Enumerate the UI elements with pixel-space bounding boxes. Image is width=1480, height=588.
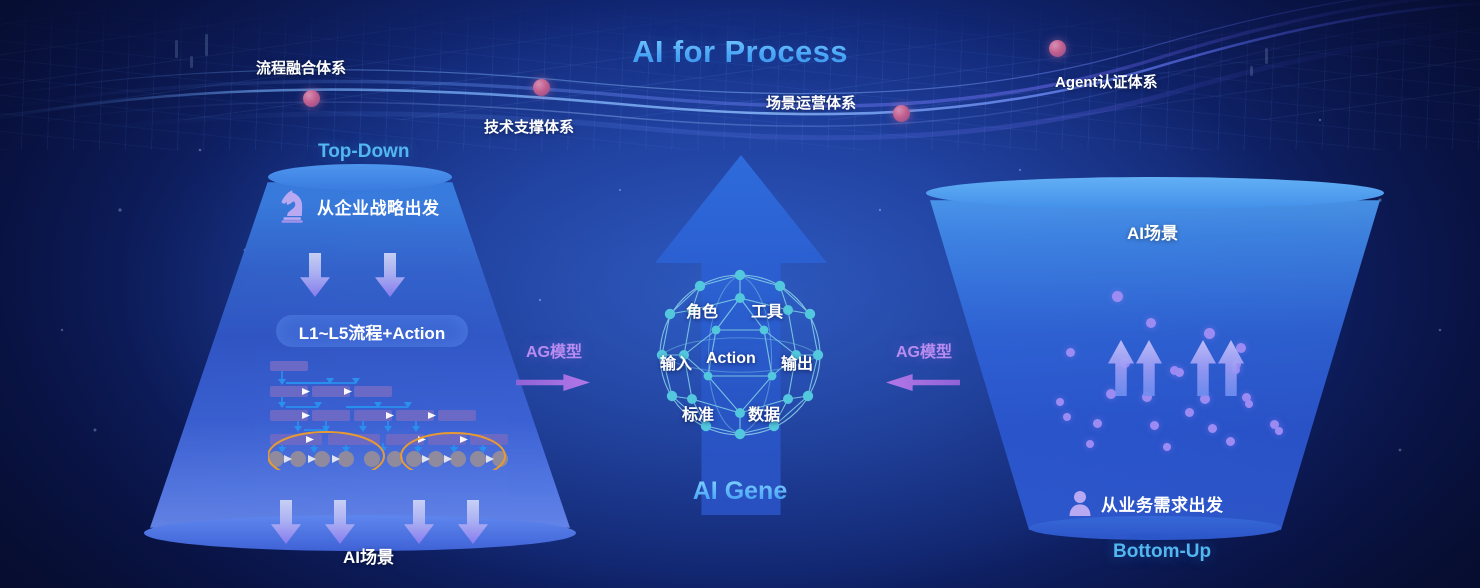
left-funnel-mid-pill: L1~L5流程+Action	[276, 315, 468, 347]
left-funnel-mid-text: L1~L5流程+Action	[299, 319, 445, 344]
left-funnel-header-text: 从企业战略出发	[317, 194, 440, 219]
left-panel-caption: Top-Down	[318, 141, 409, 163]
curve-marker-dot-4	[1049, 40, 1066, 57]
right-funnel-bottom-rim	[1029, 516, 1281, 540]
right-funnel-top-text: AI场景	[1127, 219, 1178, 244]
left-funnel-body	[150, 175, 570, 535]
curve-marker-label-4: Agent认证体系	[1055, 71, 1158, 92]
sphere-label-action: Action	[706, 350, 756, 368]
grid-floor-decoration	[0, 0, 1480, 150]
curve-marker-label-3: 场景运营体系	[766, 92, 856, 113]
sphere-label-role: 角色	[686, 298, 718, 322]
ag-model-connector-left: AG模型	[516, 338, 592, 391]
curve-marker-dot-1	[303, 90, 320, 107]
curve-marker-dot-3	[893, 105, 910, 122]
sphere-label-input: 输入	[660, 350, 692, 374]
sphere-label-data: 数据	[748, 401, 780, 425]
center-panel-caption: AI Gene	[620, 477, 860, 506]
sphere-label-standard: 标准	[682, 401, 714, 425]
page-title: AI for Process	[0, 34, 1480, 70]
left-funnel-header: 从企业战略出发	[276, 189, 440, 223]
chess-knight-icon	[276, 189, 308, 223]
curve-marker-label-1: 流程融合体系	[256, 57, 346, 78]
curve-marker-label-2: 技术支撑体系	[484, 116, 574, 137]
curve-marker-dot-2	[533, 79, 550, 96]
person-icon	[1068, 490, 1092, 516]
right-funnel-footer-text: 从业务需求出发	[1101, 491, 1224, 516]
sphere-label-tool: 工具	[751, 298, 783, 322]
left-funnel-bottom-text: AI场景	[343, 543, 394, 568]
left-funnel	[150, 175, 570, 535]
right-panel-caption: Bottom-Up	[1113, 541, 1211, 563]
ai-gene-sphere: 角色 工具 输入 Action 输出 标准 数据	[648, 268, 833, 443]
right-funnel-top-rim	[926, 177, 1384, 209]
arrow-right-icon	[516, 374, 590, 391]
right-funnel-footer: 从业务需求出发	[1068, 490, 1224, 516]
left-funnel-top-rim	[268, 164, 452, 190]
infographic-canvas: AI for Process 流程融合体系 技术支撑体系 场景运营体系 Agen…	[0, 0, 1480, 588]
sphere-label-output: 输出	[781, 350, 813, 374]
process-flow-tree	[268, 358, 518, 470]
ag-model-label: AG模型	[516, 338, 592, 362]
